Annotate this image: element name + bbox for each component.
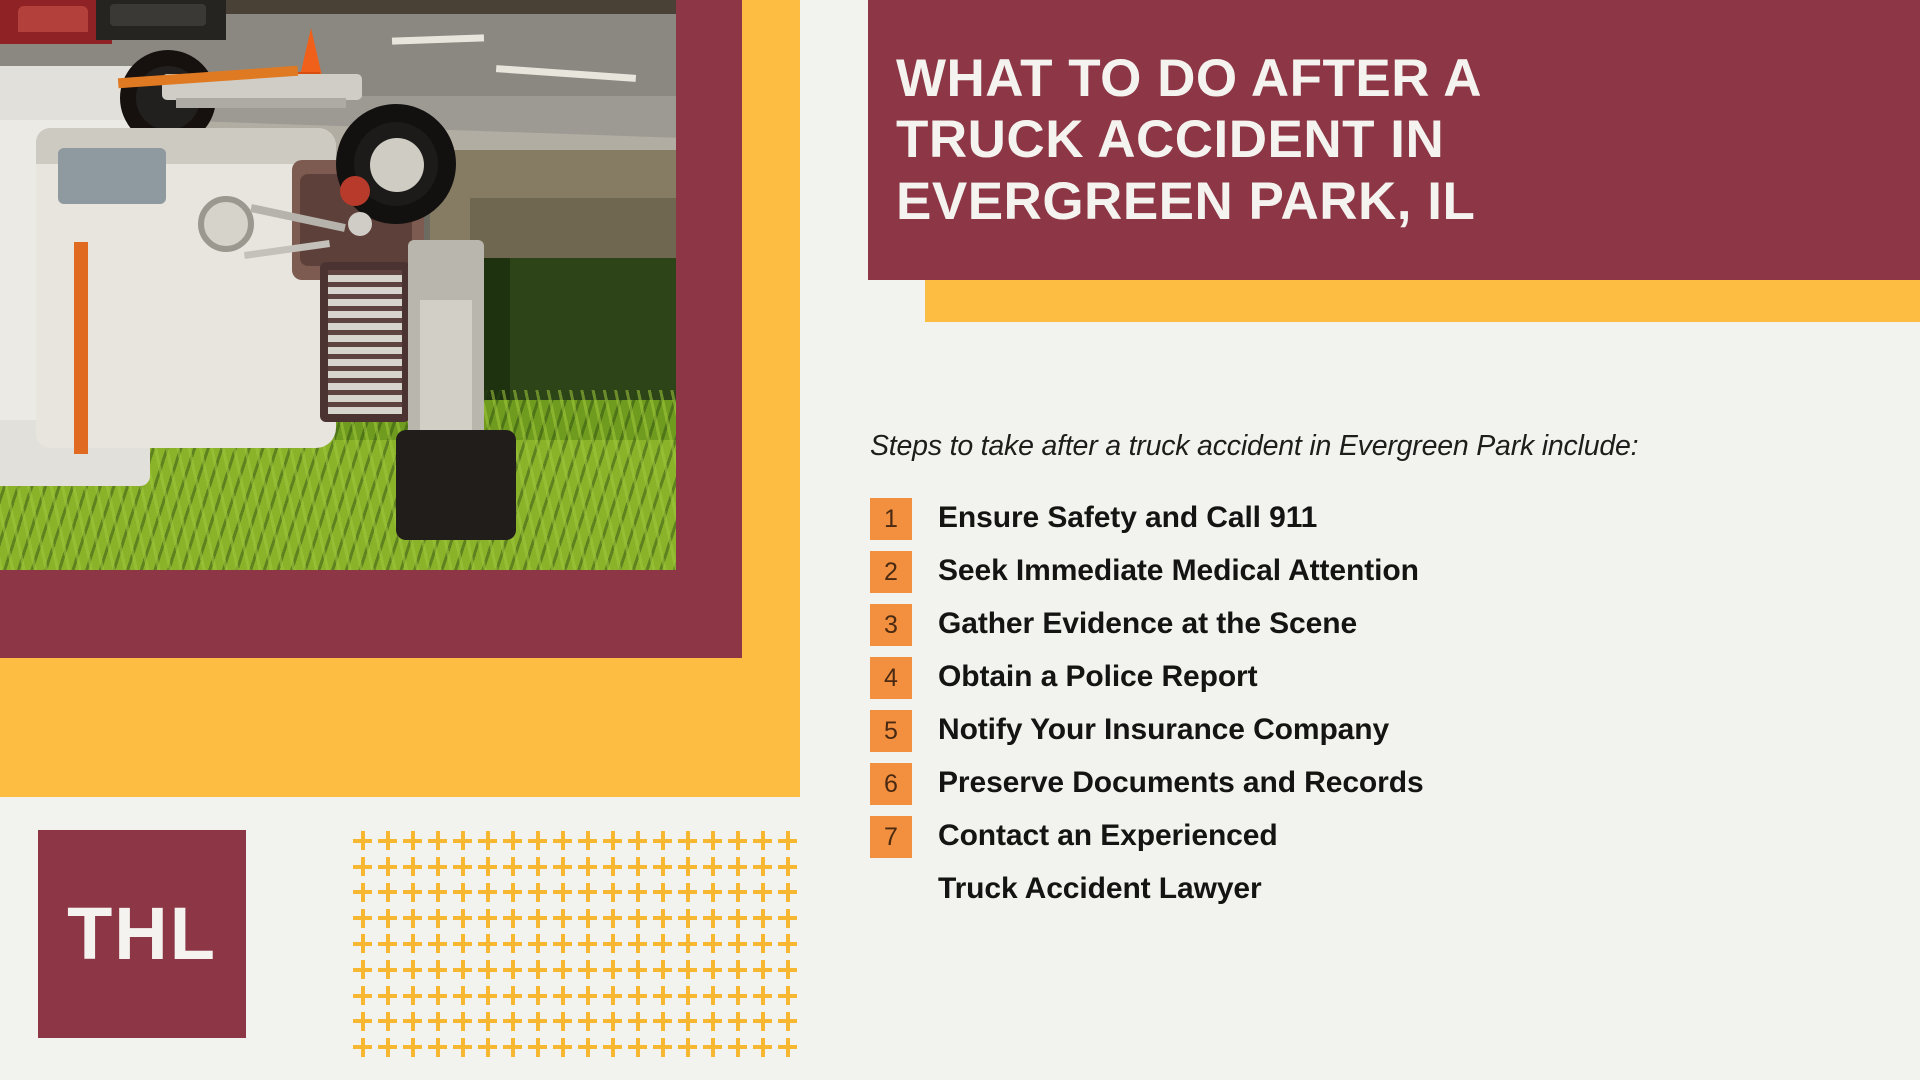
step-label: Contact an Experienced: [938, 815, 1278, 857]
plus-icon: [403, 857, 422, 876]
plus-icon: [603, 1038, 622, 1057]
plus-icon: [753, 1012, 772, 1031]
plus-icon: [578, 831, 597, 850]
plus-icon: [478, 934, 497, 953]
list-item: 1 Ensure Safety and Call 911: [870, 497, 1890, 540]
plus-icon: [478, 1038, 497, 1057]
plus-icon: [678, 831, 697, 850]
truck-undercarriage-shadow: [396, 430, 516, 540]
plus-icon: [603, 934, 622, 953]
plus-icon: [678, 986, 697, 1005]
plus-icon: [578, 857, 597, 876]
plus-icon: [453, 831, 472, 850]
plus-icon: [378, 1012, 397, 1031]
plus-icon: [703, 1038, 722, 1057]
plus-icon: [428, 1012, 447, 1031]
plus-icon: [753, 883, 772, 902]
plus-icon: [378, 1038, 397, 1057]
plus-icon: [553, 831, 572, 850]
plus-icon: [528, 1038, 547, 1057]
traffic-cone-icon: [300, 28, 322, 76]
thl-logo[interactable]: THL: [38, 830, 246, 1038]
list-item: 7 Contact an Experienced: [870, 815, 1890, 858]
plus-icon: [353, 934, 372, 953]
plus-icon: [578, 960, 597, 979]
plus-icon: [653, 934, 672, 953]
steps-section: Steps to take after a truck accident in …: [870, 430, 1890, 921]
plus-icon: [503, 857, 522, 876]
plus-icon: [428, 986, 447, 1005]
plus-icon: [678, 934, 697, 953]
plus-icon: [653, 909, 672, 928]
plus-icon: [753, 934, 772, 953]
plus-icon: [428, 883, 447, 902]
plus-icon: [478, 960, 497, 979]
step-number-badge-empty: [870, 869, 912, 911]
plus-icon: [528, 883, 547, 902]
plus-icon: [403, 1038, 422, 1057]
list-item: 6 Preserve Documents and Records: [870, 762, 1890, 805]
plus-icon: [353, 857, 372, 876]
plus-icon: [778, 986, 797, 1005]
plus-icon: [703, 986, 722, 1005]
plus-icon: [403, 934, 422, 953]
plus-icon: [353, 1012, 372, 1031]
plus-icon: [503, 986, 522, 1005]
plus-icon: [778, 831, 797, 850]
step-label: Notify Your Insurance Company: [938, 709, 1389, 751]
list-item: 5 Notify Your Insurance Company: [870, 709, 1890, 752]
plus-icon: [378, 857, 397, 876]
plus-icon: [453, 934, 472, 953]
plus-icon: [678, 960, 697, 979]
step-label: Truck Accident Lawyer: [938, 868, 1262, 910]
plus-icon: [578, 909, 597, 928]
plus-icon: [378, 831, 397, 850]
plus-icon: [603, 857, 622, 876]
plus-icon: [428, 960, 447, 979]
step-number-badge: 2: [870, 551, 912, 593]
title-line-3: EVERGREEN PARK, IL: [896, 172, 1475, 231]
plus-icon: [753, 960, 772, 979]
plus-icon: [428, 831, 447, 850]
truck-accident-photo: [0, 0, 676, 570]
plus-icon: [428, 909, 447, 928]
plus-icon: [553, 1038, 572, 1057]
plus-icon: [378, 909, 397, 928]
truck-windshield: [58, 148, 166, 204]
plus-icon: [503, 934, 522, 953]
plus-icon: [403, 1012, 422, 1031]
title-line-2: TRUCK ACCIDENT IN: [896, 110, 1444, 169]
plus-icon: [728, 934, 747, 953]
plus-icon: [603, 831, 622, 850]
plus-icon: [503, 909, 522, 928]
plus-icon: [778, 934, 797, 953]
plus-icon: [728, 960, 747, 979]
plus-icon: [453, 986, 472, 1005]
plus-icon: [703, 883, 722, 902]
plus-icon: [603, 1012, 622, 1031]
plus-icon: [753, 909, 772, 928]
plus-icon: [628, 883, 647, 902]
plus-icon: [353, 909, 372, 928]
plus-icon: [403, 986, 422, 1005]
plus-icon: [428, 1038, 447, 1057]
plus-icon: [353, 960, 372, 979]
plus-icon: [753, 857, 772, 876]
plus-icon: [628, 909, 647, 928]
plus-icon: [778, 909, 797, 928]
plus-icon: [778, 960, 797, 979]
plus-icon: [453, 960, 472, 979]
plus-icon: [778, 1012, 797, 1031]
title-banner: WHAT TO DO AFTER A TRUCK ACCIDENT IN EVE…: [868, 0, 1920, 280]
plus-icon: [403, 883, 422, 902]
plus-icon: [703, 1012, 722, 1031]
truck-grille: [320, 262, 410, 422]
plus-icon: [628, 1012, 647, 1031]
plus-icon: [528, 1012, 547, 1031]
plus-icon: [653, 831, 672, 850]
plus-icon: [703, 857, 722, 876]
photo-dark-vehicle-top: [110, 4, 206, 26]
plus-icon: [653, 986, 672, 1005]
plus-icon: [553, 857, 572, 876]
plus-icon: [378, 960, 397, 979]
plus-icon: [678, 857, 697, 876]
plus-icon: [528, 934, 547, 953]
plus-icon: [528, 960, 547, 979]
step-number-badge: 1: [870, 498, 912, 540]
plus-icon: [453, 857, 472, 876]
plus-pattern-decoration: [350, 828, 800, 1060]
plus-icon: [653, 960, 672, 979]
plus-icon: [753, 986, 772, 1005]
plus-icon: [528, 857, 547, 876]
plus-icon: [653, 1038, 672, 1057]
step-label: Preserve Documents and Records: [938, 762, 1424, 804]
plus-icon: [628, 857, 647, 876]
step-label: Seek Immediate Medical Attention: [938, 550, 1419, 592]
title-line-1: WHAT TO DO AFTER A: [896, 49, 1482, 108]
plus-icon: [553, 883, 572, 902]
plus-icon: [728, 1038, 747, 1057]
photo-red-vehicle-cab: [18, 6, 88, 32]
plus-icon: [528, 986, 547, 1005]
step-number-badge: 5: [870, 710, 912, 752]
plus-icon: [353, 986, 372, 1005]
infographic-canvas: THL WHAT TO DO AFTER A TRUCK ACCIDENT IN…: [0, 0, 1920, 1080]
truck-marker-lamp: [340, 176, 370, 206]
plus-icon: [503, 831, 522, 850]
plus-icon: [678, 909, 697, 928]
title-accent-bar: [925, 280, 1920, 322]
list-item: 2 Seek Immediate Medical Attention: [870, 550, 1890, 593]
plus-icon: [378, 934, 397, 953]
plus-icon: [378, 883, 397, 902]
step-number-badge: 7: [870, 816, 912, 858]
plus-icon: [603, 909, 622, 928]
plus-icon: [778, 857, 797, 876]
plus-icon: [553, 960, 572, 979]
plus-icon: [453, 1038, 472, 1057]
plus-icon: [653, 1012, 672, 1031]
step-number-badge: 6: [870, 763, 912, 805]
plus-icon: [778, 883, 797, 902]
plus-icon: [778, 1038, 797, 1057]
plus-icon: [678, 1038, 697, 1057]
truck-mirror: [198, 196, 254, 252]
plus-icon: [353, 1038, 372, 1057]
plus-icon: [503, 960, 522, 979]
plus-icon: [703, 960, 722, 979]
list-item: 4 Obtain a Police Report: [870, 656, 1890, 699]
plus-icon: [628, 986, 647, 1005]
plus-icon: [528, 909, 547, 928]
plus-icon: [628, 831, 647, 850]
plus-icon: [678, 883, 697, 902]
plus-icon: [728, 883, 747, 902]
plus-icon: [353, 831, 372, 850]
plus-icon: [728, 1012, 747, 1031]
plus-icon: [478, 1012, 497, 1031]
plus-icon: [503, 1038, 522, 1057]
step-number-badge: 4: [870, 657, 912, 699]
plus-icon: [428, 934, 447, 953]
plus-icon: [478, 986, 497, 1005]
plus-icon: [653, 883, 672, 902]
plus-icon: [553, 934, 572, 953]
plus-icon: [578, 883, 597, 902]
truck-wheel-hub: [370, 138, 424, 192]
plus-icon: [628, 934, 647, 953]
plus-icon: [453, 1012, 472, 1031]
plus-icon: [728, 857, 747, 876]
plus-icon: [703, 909, 722, 928]
step-label: Ensure Safety and Call 911: [938, 497, 1317, 539]
plus-icon: [453, 883, 472, 902]
plus-icon: [478, 883, 497, 902]
plus-icon: [678, 1012, 697, 1031]
plus-icon: [703, 831, 722, 850]
plus-icon: [603, 883, 622, 902]
plus-icon: [403, 909, 422, 928]
steps-intro: Steps to take after a truck accident in …: [870, 430, 1890, 463]
list-item: 3 Gather Evidence at the Scene: [870, 603, 1890, 646]
plus-icon: [503, 883, 522, 902]
plus-icon: [728, 909, 747, 928]
plus-icon: [403, 960, 422, 979]
plus-icon: [603, 960, 622, 979]
list-item-continuation: Truck Accident Lawyer: [870, 868, 1890, 911]
step-label: Obtain a Police Report: [938, 656, 1258, 698]
plus-icon: [478, 831, 497, 850]
plus-icon: [753, 1038, 772, 1057]
step-number-badge: 3: [870, 604, 912, 646]
plus-icon: [753, 831, 772, 850]
plus-icon: [428, 857, 447, 876]
plus-icon: [628, 1038, 647, 1057]
steps-list: 1 Ensure Safety and Call 911 2 Seek Imme…: [870, 497, 1890, 911]
plus-icon: [578, 1012, 597, 1031]
plus-icon: [528, 831, 547, 850]
plus-icon: [478, 857, 497, 876]
plus-icon: [553, 1012, 572, 1031]
plus-icon: [403, 831, 422, 850]
truck-headlamp: [348, 212, 372, 236]
step-label: Gather Evidence at the Scene: [938, 603, 1357, 645]
plus-icon: [353, 883, 372, 902]
plus-icon: [728, 831, 747, 850]
plus-icon: [653, 857, 672, 876]
plus-icon: [728, 986, 747, 1005]
plus-icon: [578, 986, 597, 1005]
plus-icon: [578, 1038, 597, 1057]
plus-icon: [578, 934, 597, 953]
plus-icon: [553, 986, 572, 1005]
plus-icon: [378, 986, 397, 1005]
page-title: WHAT TO DO AFTER A TRUCK ACCIDENT IN EVE…: [868, 48, 1502, 232]
plus-icon: [703, 934, 722, 953]
plus-icon: [553, 909, 572, 928]
plus-icon: [628, 960, 647, 979]
plus-icon: [503, 1012, 522, 1031]
plus-icon: [453, 909, 472, 928]
truck-side-rail-lower: [176, 98, 346, 108]
truck-orange-stripe: [74, 242, 88, 454]
plus-icon: [603, 986, 622, 1005]
plus-icon: [478, 909, 497, 928]
logo-text: THL: [67, 897, 217, 971]
